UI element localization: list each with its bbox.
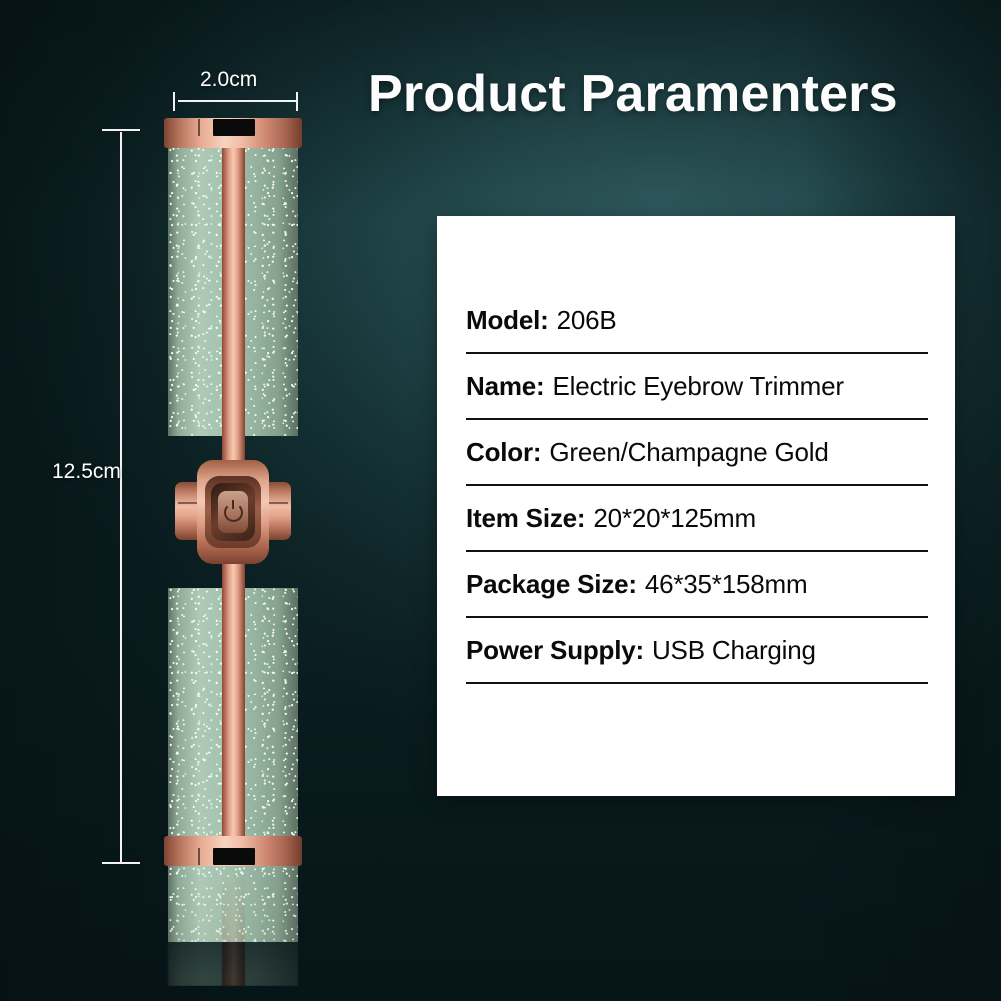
product-control-bezel <box>175 436 291 588</box>
spec-row-label: Power Supply: <box>466 635 644 666</box>
spec-row-value: Green/Champagne Gold <box>549 437 828 468</box>
spec-row: Color:Green/Champagne Gold <box>466 420 928 486</box>
spec-row-value: 206B <box>557 305 617 336</box>
product-parameters-image: Product Paramenters 2.0cm 12.5cm <box>0 0 1001 1001</box>
spec-row: Name:Electric Eyebrow Trimmer <box>466 354 928 420</box>
reflection-center-strip <box>222 866 245 986</box>
spec-row-label: Package Size: <box>466 569 637 600</box>
spec-row: Package Size:46*35*158mm <box>466 552 928 618</box>
height-dimension-line <box>120 132 122 862</box>
spec-row-label: Color: <box>466 437 541 468</box>
width-dimension-label: 2.0cm <box>200 68 257 92</box>
spec-row-label: Item Size: <box>466 503 585 534</box>
spec-row-value: USB Charging <box>652 635 816 666</box>
spec-row-value: 20*20*125mm <box>593 503 756 534</box>
specification-list: Model:206BName:Electric Eyebrow TrimmerC… <box>466 288 928 684</box>
specification-card: Model:206BName:Electric Eyebrow TrimmerC… <box>437 216 955 796</box>
product-cap-bottom-seam <box>198 848 200 865</box>
power-icon <box>224 503 243 522</box>
spec-row: Item Size:20*20*125mm <box>466 486 928 552</box>
width-dimension-line <box>178 100 296 102</box>
width-dimension-cap-right <box>296 92 298 111</box>
spec-row-label: Model: <box>466 305 549 336</box>
height-dimension-cap-top <box>102 129 140 131</box>
product-cap-top-gap <box>213 119 255 136</box>
product-image-eyebrow-trimmer <box>166 118 300 866</box>
spec-row-value: Electric Eyebrow Trimmer <box>552 371 843 402</box>
spec-row: Power Supply:USB Charging <box>466 618 928 684</box>
product-cap-top-seam <box>198 119 200 136</box>
spec-row-label: Name: <box>466 371 544 402</box>
spec-row: Model:206B <box>466 288 928 354</box>
power-button[interactable] <box>218 491 248 533</box>
spec-row-value: 46*35*158mm <box>645 569 808 600</box>
product-reflection <box>166 866 300 986</box>
width-dimension-cap-left <box>173 92 175 111</box>
height-dimension-cap-bottom <box>102 862 140 864</box>
product-cap-bottom-gap <box>213 848 255 865</box>
page-title: Product Paramenters <box>368 64 898 124</box>
height-dimension-label: 12.5cm <box>52 460 121 484</box>
